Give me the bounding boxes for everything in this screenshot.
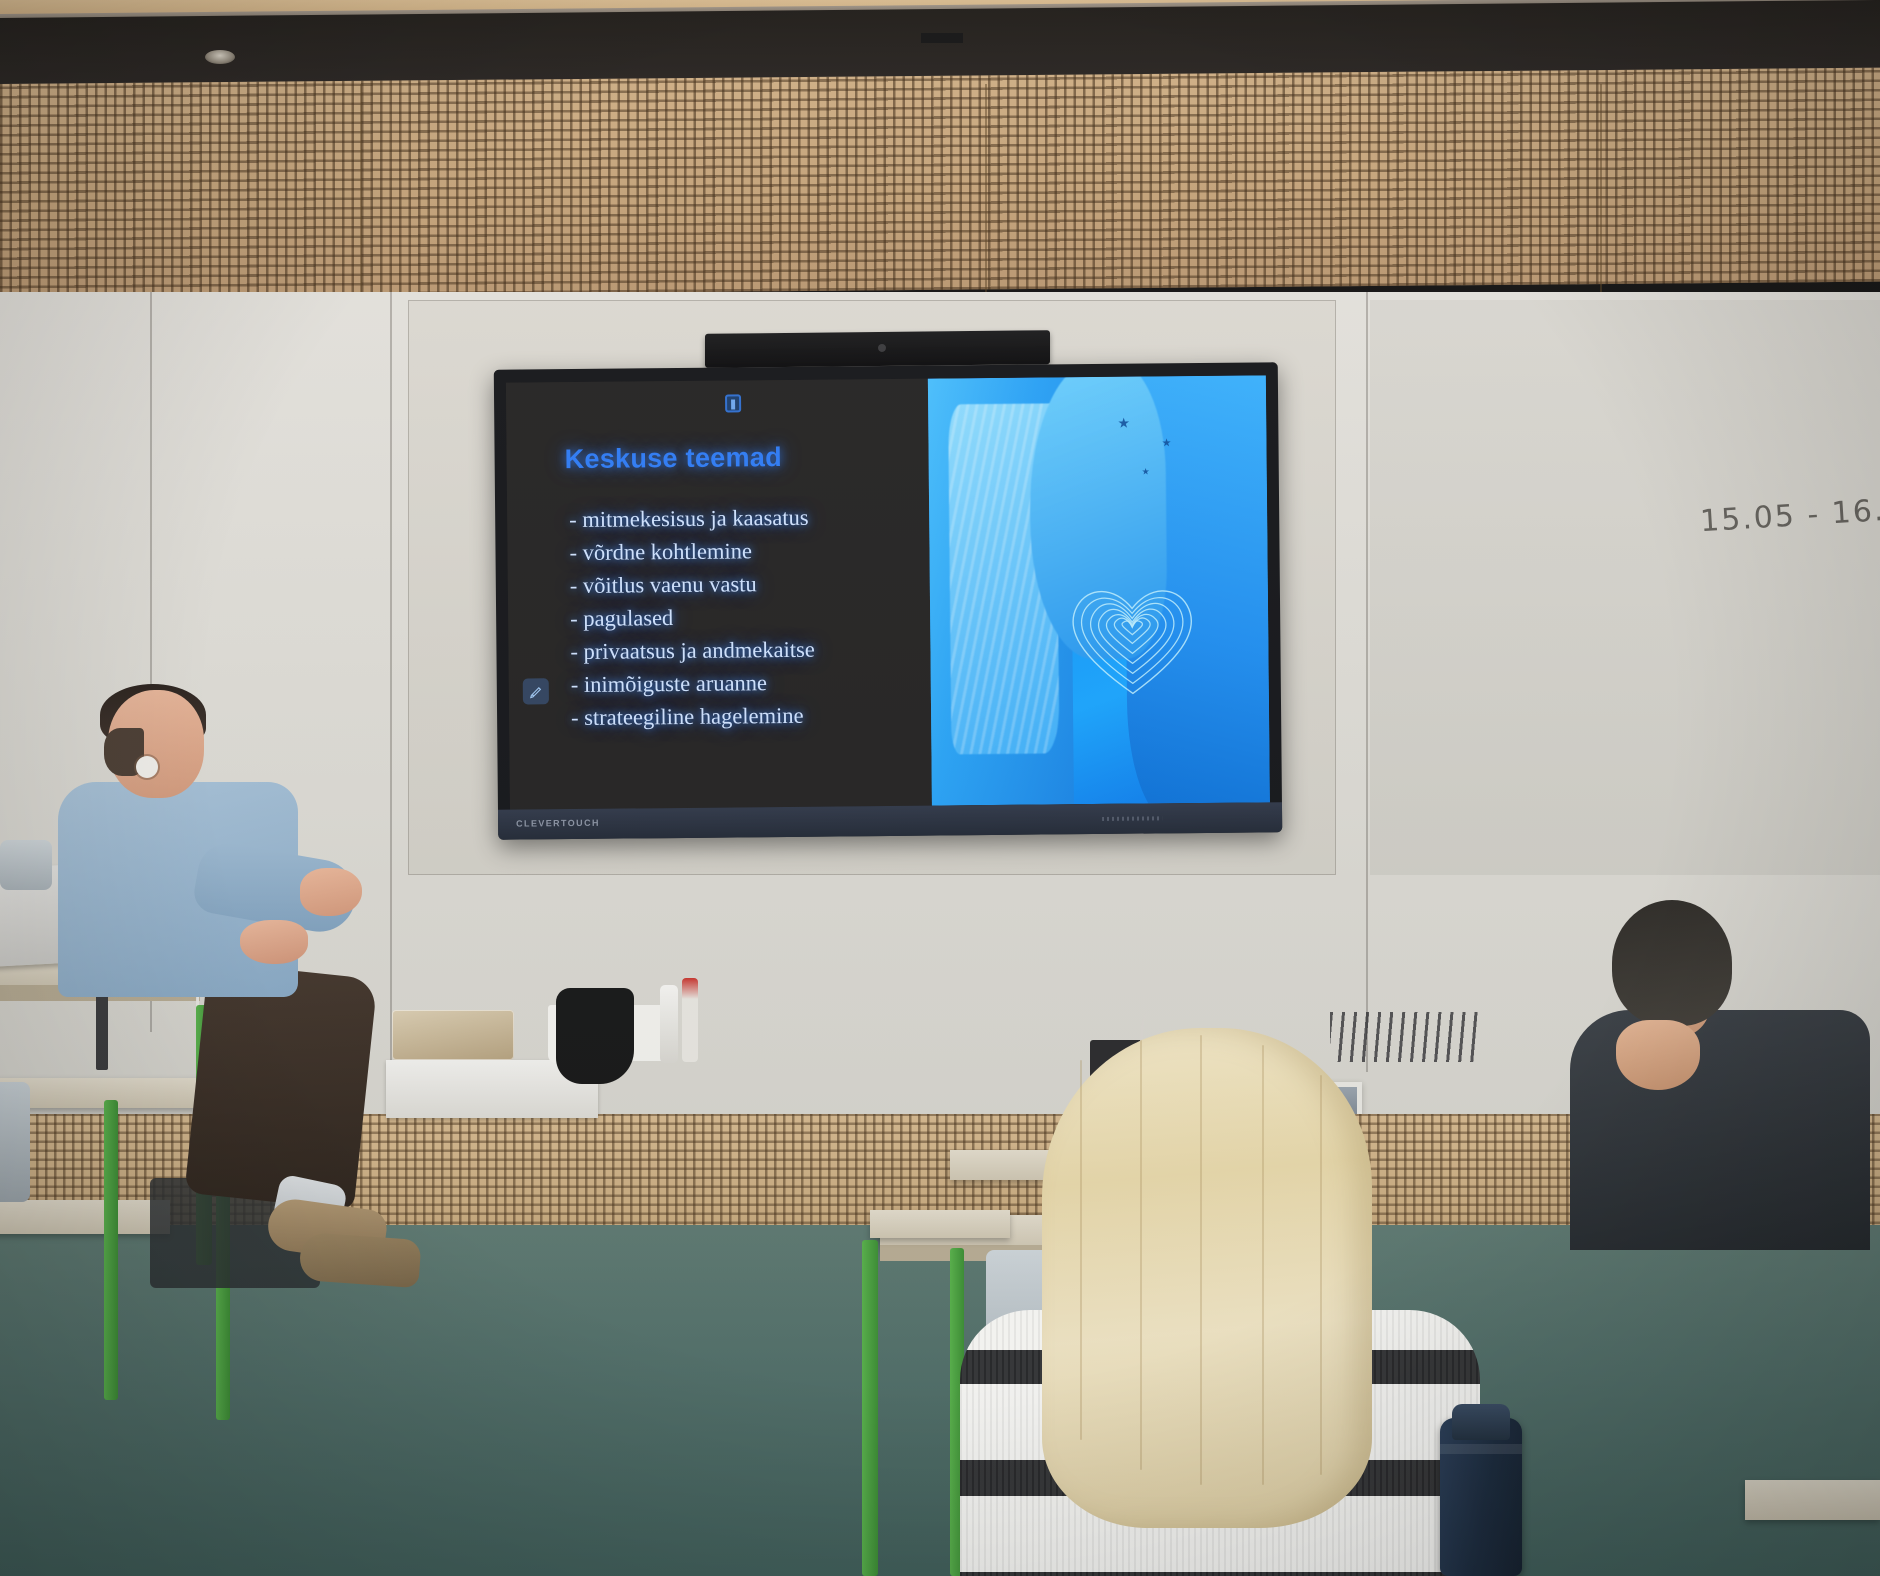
plastic-bag [392,1010,514,1060]
chair-backrest [0,840,52,890]
slide-bullet: - strateegiline hagelemine [571,699,816,734]
spray-bottle [660,985,678,1063]
water-bottle-ring [1440,1444,1522,1454]
heart-hands-graphic [1056,564,1207,705]
wall-seam [390,292,392,1072]
spray-bottle [682,978,698,1062]
institution-logo-icon [725,394,741,412]
slide-bullet: - võitlus vaenu vastu [570,568,815,603]
slide-bullet: - võrdne kohtlemine [569,535,814,570]
desk-surface [0,1078,200,1108]
presenter-earring-icon [136,756,158,778]
slide-photo-pane: ★ ★ ★ [928,375,1270,805]
student-front-hair [1042,1028,1372,1528]
star-tattoo-icon: ★ [1142,466,1150,477]
water-bottle-cap[interactable] [1452,1404,1510,1440]
slide-bullet: - privaatsus ja andmekaitse [570,634,815,669]
student-right-hand [1616,1020,1700,1090]
slide-text-pane: Keskuse teemad - mitmekesisus ja kaasatu… [506,379,932,810]
slide-bullet: - pagulased [570,601,815,636]
desk-leg [104,1100,118,1400]
desk-surface [870,1210,1010,1238]
acoustic-panel-seam [1600,84,1602,298]
wall-seam [1366,292,1368,1072]
black-cloth-bag [556,988,634,1084]
hair-strand [1320,1075,1322,1475]
cable-bundle [1330,1012,1480,1062]
whiteboard-right [1370,300,1880,875]
soundbar [705,330,1050,368]
ceiling-light-icon [205,50,235,64]
star-tattoo-icon: ★ [1117,415,1130,432]
hair-strand [1080,1060,1082,1440]
hair-strand [1200,1035,1202,1485]
presenter-hand-left [240,920,308,964]
soundbar-indicator-icon [878,344,886,352]
interactive-display[interactable]: Keskuse teemad - mitmekesisus ja kaasatu… [494,362,1282,840]
acoustic-panel-seam [360,84,362,298]
acoustic-panel-band [0,68,1880,298]
acoustic-panel-seam [985,84,987,298]
student-right-hair [1612,900,1732,1026]
presenter-legs [184,962,377,1210]
slide-bullet: - inimõiguste aruanne [571,666,816,701]
desk-surface [0,1200,170,1234]
display-brand-label: CLEVERTOUCH [516,818,600,829]
desk-surface [1745,1480,1880,1520]
slide-title: Keskuse teemad [564,442,782,475]
student-right-torso [1570,1010,1870,1250]
star-tattoo-icon: ★ [1162,436,1172,449]
slide-bullet-list: - mitmekesisus ja kaasatus - võrdne koht… [569,502,815,735]
water-bottle[interactable] [1440,1418,1522,1576]
hair-strand [1140,1040,1142,1470]
chair-backrest [0,1082,30,1202]
pen-icon[interactable] [523,678,549,704]
presenter-hand-right [300,868,362,916]
desk-leg [862,1240,878,1576]
display-screen[interactable]: Keskuse teemad - mitmekesisus ja kaasatu… [506,375,1270,809]
slide-bullet: - mitmekesisus ja kaasatus [569,502,814,537]
presenter-shoe [298,1232,421,1288]
soundbar-mount [921,33,963,43]
display-ir-sensor-icon [1102,816,1162,821]
classroom-scene: 15.05 - 16.1 Keskuse teemad - mitmekesis… [0,0,1880,1576]
hair-strand [1262,1045,1264,1485]
